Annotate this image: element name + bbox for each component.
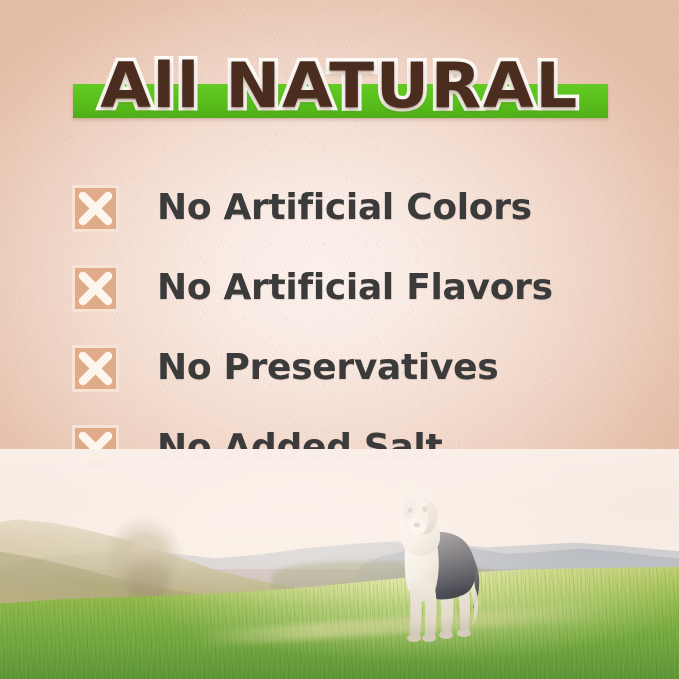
feature-label: No Preservatives — [157, 350, 498, 386]
feature-row: No Preservatives — [0, 328, 679, 408]
dog — [363, 477, 483, 645]
feature-list: No Artificial Colors No Artificial Flavo… — [0, 168, 679, 488]
landscape-photo — [0, 449, 679, 679]
banner-title: All NATURAL — [0, 38, 679, 134]
photo-scene — [0, 449, 679, 679]
all-natural-poster: All NATURAL No Artificial Colors — [0, 0, 679, 679]
feature-row: No Artificial Colors — [0, 168, 679, 248]
feature-label: No Artificial Flavors — [157, 270, 553, 306]
x-mark-icon — [72, 265, 119, 312]
feature-label: No Artificial Colors — [157, 190, 532, 226]
feature-row: No Artificial Flavors — [0, 248, 679, 328]
x-mark-icon — [72, 185, 119, 232]
header-banner: All NATURAL — [0, 38, 679, 134]
x-mark-icon — [72, 345, 119, 392]
